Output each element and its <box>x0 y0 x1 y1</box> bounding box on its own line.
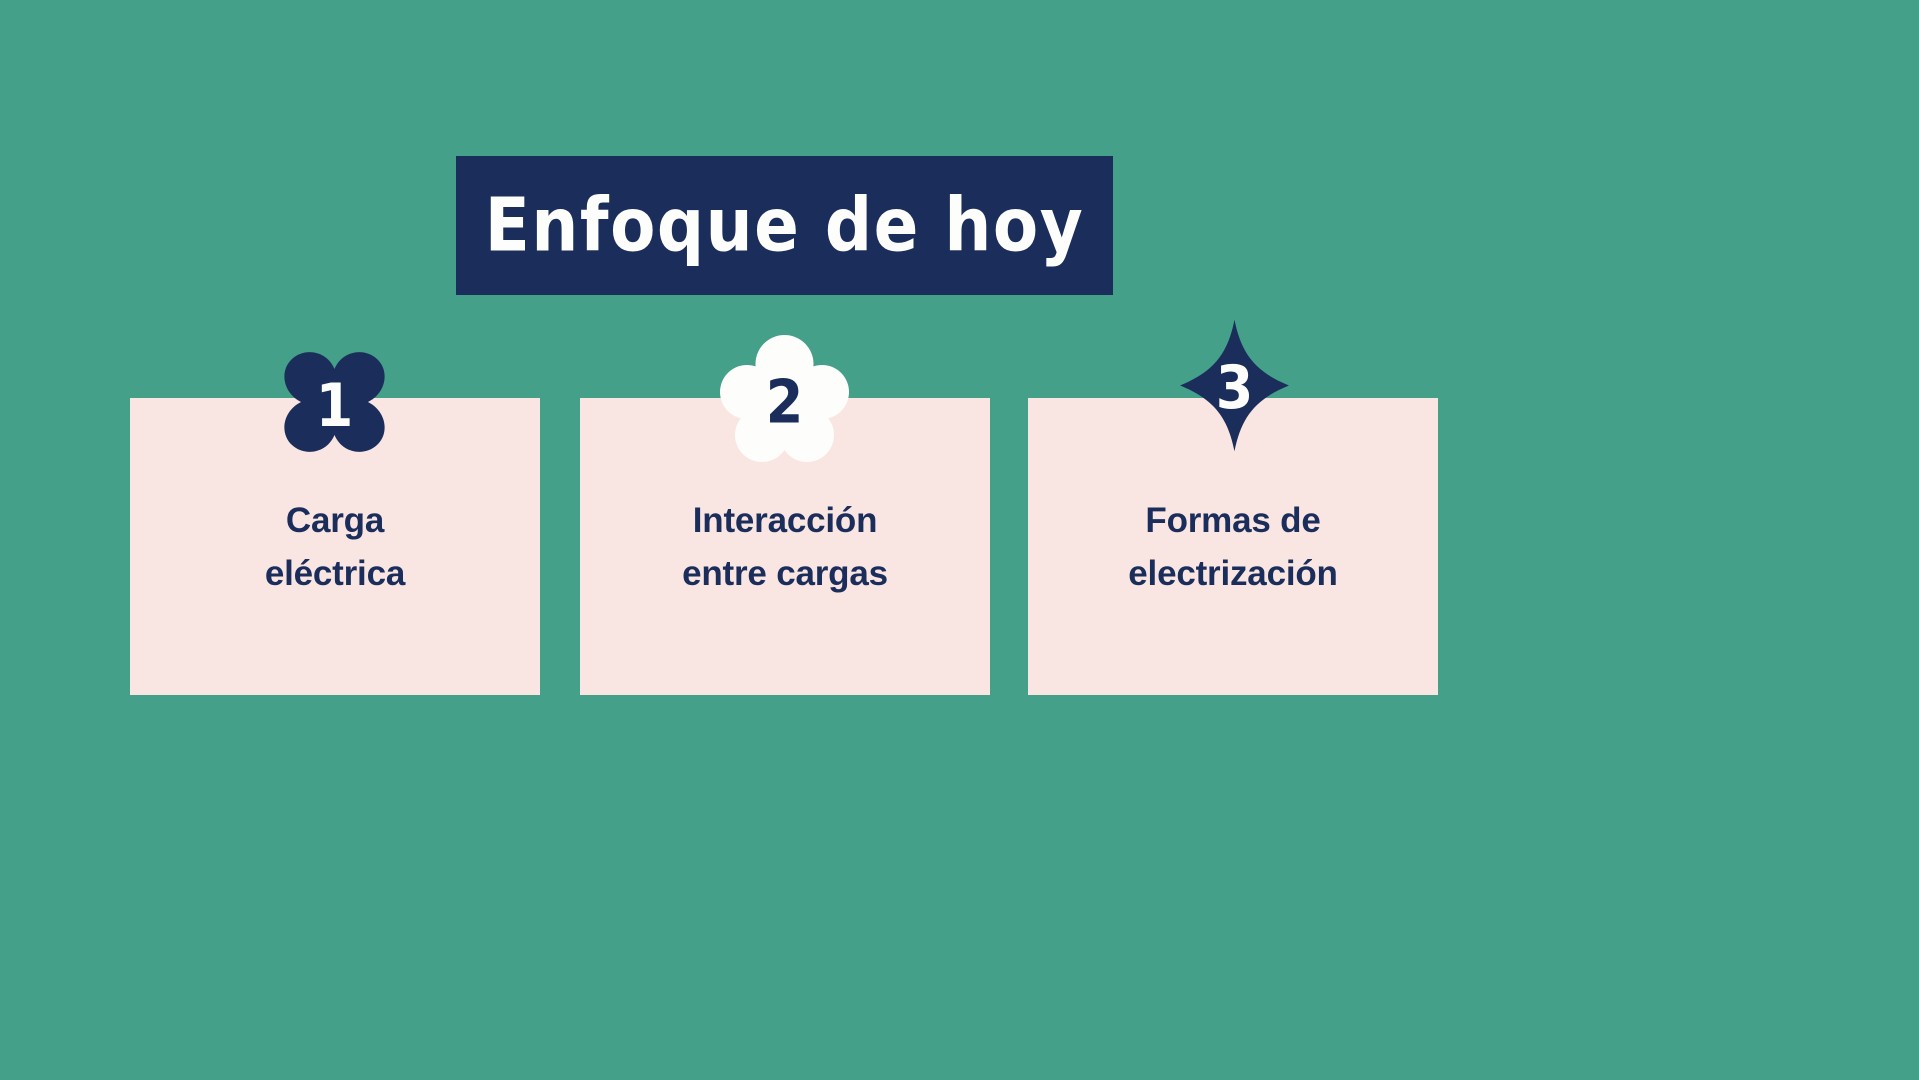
card-label: Formas de electrización <box>1028 494 1438 600</box>
card-label-line-2: entre cargas <box>682 554 888 593</box>
card-label-line-2: electrización <box>1128 554 1337 593</box>
slide-canvas: Enfoque de hoy Carga eléctrica 1 Interac… <box>0 0 1919 1080</box>
badge-3: 3 <box>1172 318 1297 453</box>
badge-1: 1 <box>272 335 397 470</box>
card-label: Carga eléctrica <box>130 494 540 600</box>
card-label-line-1: Formas de <box>1145 501 1320 540</box>
card-label-line-1: Carga <box>286 501 384 540</box>
card-label-line-2: eléctrica <box>265 554 405 593</box>
badge-number: 2 <box>722 323 847 472</box>
badge-2: 2 <box>722 330 847 465</box>
badge-number: 3 <box>1172 311 1297 460</box>
badge-number: 1 <box>272 328 397 477</box>
card-label: Interacción entre cargas <box>580 494 990 600</box>
cards-row: Carga eléctrica 1 Interacción entre carg… <box>0 0 1919 1080</box>
card-label-line-1: Interacción <box>693 501 878 540</box>
